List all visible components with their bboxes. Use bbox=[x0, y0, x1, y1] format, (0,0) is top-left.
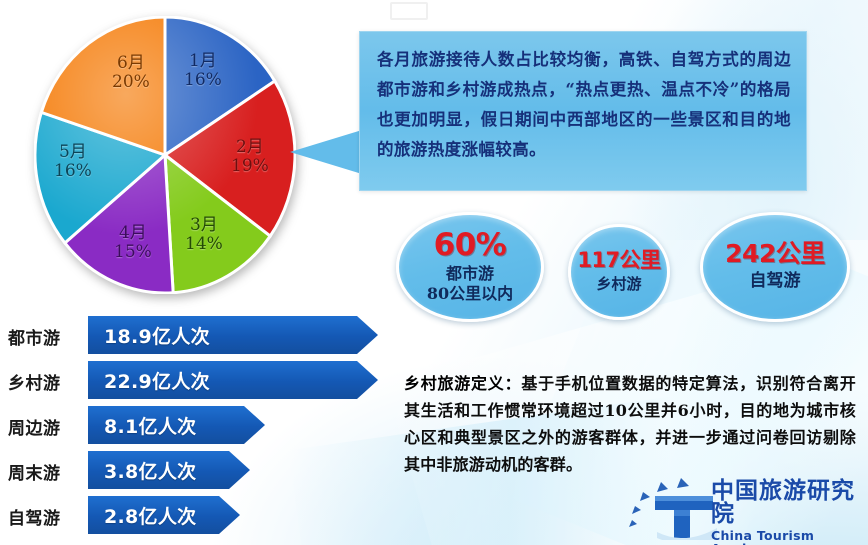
monthly-share-pie-chart: 1月 16% 2月 19% 3月 14% 4月 15% 5月 16% 6月 20… bbox=[34, 16, 304, 304]
bar-value: 22.9亿人次 bbox=[104, 367, 210, 394]
bar-label-自驾游: 自驾游 bbox=[8, 504, 86, 529]
bar-arrow-自驾游: 2.8亿人次 bbox=[88, 496, 240, 534]
rural-tourism-definition: 乡村旅游定义：基于手机位置数据的特定算法，识别符合离开其生活和工作惯常环境超过1… bbox=[404, 370, 856, 478]
bar-row: 都市游18.9亿人次 bbox=[0, 316, 400, 354]
pie-label-2: 2月 19% bbox=[231, 138, 269, 176]
definition-lead: 乡村旅游定义： bbox=[404, 374, 521, 393]
badge-value: 242公里 bbox=[725, 241, 825, 266]
bar-row: 周边游8.1亿人次 bbox=[0, 406, 400, 444]
watermark-icon bbox=[384, 0, 432, 24]
pie-label-4: 4月 15% bbox=[114, 224, 152, 262]
infographic-canvas: 1月 16% 2月 19% 3月 14% 4月 15% 5月 16% 6月 20… bbox=[0, 0, 868, 545]
pie-label-1: 1月 16% bbox=[184, 52, 222, 90]
callout-text: 各月旅游接待人数占比较均衡，高铁、自驾方式的周边都市游和乡村游成热点，“热点更热… bbox=[377, 45, 791, 165]
pie-label-5: 5月 16% bbox=[54, 143, 92, 181]
badge-value: 60% bbox=[434, 230, 507, 261]
bar-value: 18.9亿人次 bbox=[104, 322, 210, 349]
callout-box: 各月旅游接待人数占比较均衡，高铁、自驾方式的周边都市游和乡村游成热点，“热点更热… bbox=[359, 31, 807, 191]
china-tourism-academy-logo: 中国旅游研究院 China Tourism Academy bbox=[627, 470, 865, 542]
badge-value: 117公里 bbox=[577, 250, 660, 271]
badge-label-line1: 乡村游 bbox=[596, 275, 641, 294]
bar-label-乡村游: 乡村游 bbox=[8, 369, 86, 394]
stat-badge-self-drive-tourism: 242公里 自驾游 bbox=[700, 212, 850, 322]
logo-text-block: 中国旅游研究院 China Tourism Academy bbox=[711, 480, 865, 545]
badge-label-line1: 都市游 bbox=[446, 264, 494, 284]
stat-badge-rural-tourism: 117公里 乡村游 bbox=[568, 224, 670, 320]
bar-value: 8.1亿人次 bbox=[104, 412, 196, 439]
bar-label-都市游: 都市游 bbox=[8, 324, 86, 349]
logo-t-mark-icon bbox=[627, 476, 719, 540]
bar-row: 周末游3.8亿人次 bbox=[0, 451, 400, 489]
logo-name-cn: 中国旅游研究院 bbox=[711, 480, 865, 526]
stat-badge-urban-tourism: 60% 都市游 80公里以内 bbox=[396, 212, 544, 322]
bar-arrow-周边游: 8.1亿人次 bbox=[88, 406, 265, 444]
pie-label-3: 3月 14% bbox=[185, 216, 223, 254]
bar-row: 乡村游22.9亿人次 bbox=[0, 361, 400, 399]
pie-label-6: 6月 20% bbox=[112, 54, 150, 92]
bar-label-周末游: 周末游 bbox=[8, 459, 86, 484]
badge-label-line1: 自驾游 bbox=[750, 271, 801, 292]
bar-label-周边游: 周边游 bbox=[8, 414, 86, 439]
bar-value: 2.8亿人次 bbox=[104, 502, 196, 529]
callout-pointer-icon bbox=[290, 130, 362, 174]
bar-arrow-乡村游: 22.9亿人次 bbox=[88, 361, 378, 399]
logo-name-en: China Tourism Academy bbox=[711, 530, 865, 545]
bar-arrow-都市游: 18.9亿人次 bbox=[88, 316, 378, 354]
bar-arrow-周末游: 3.8亿人次 bbox=[88, 451, 250, 489]
bar-value: 3.8亿人次 bbox=[104, 457, 196, 484]
badge-label-line2: 80公里以内 bbox=[427, 284, 513, 304]
bar-row: 自驾游2.8亿人次 bbox=[0, 496, 400, 534]
tourism-volume-bar-chart: 都市游18.9亿人次乡村游22.9亿人次周边游8.1亿人次周末游3.8亿人次自驾… bbox=[0, 316, 400, 542]
